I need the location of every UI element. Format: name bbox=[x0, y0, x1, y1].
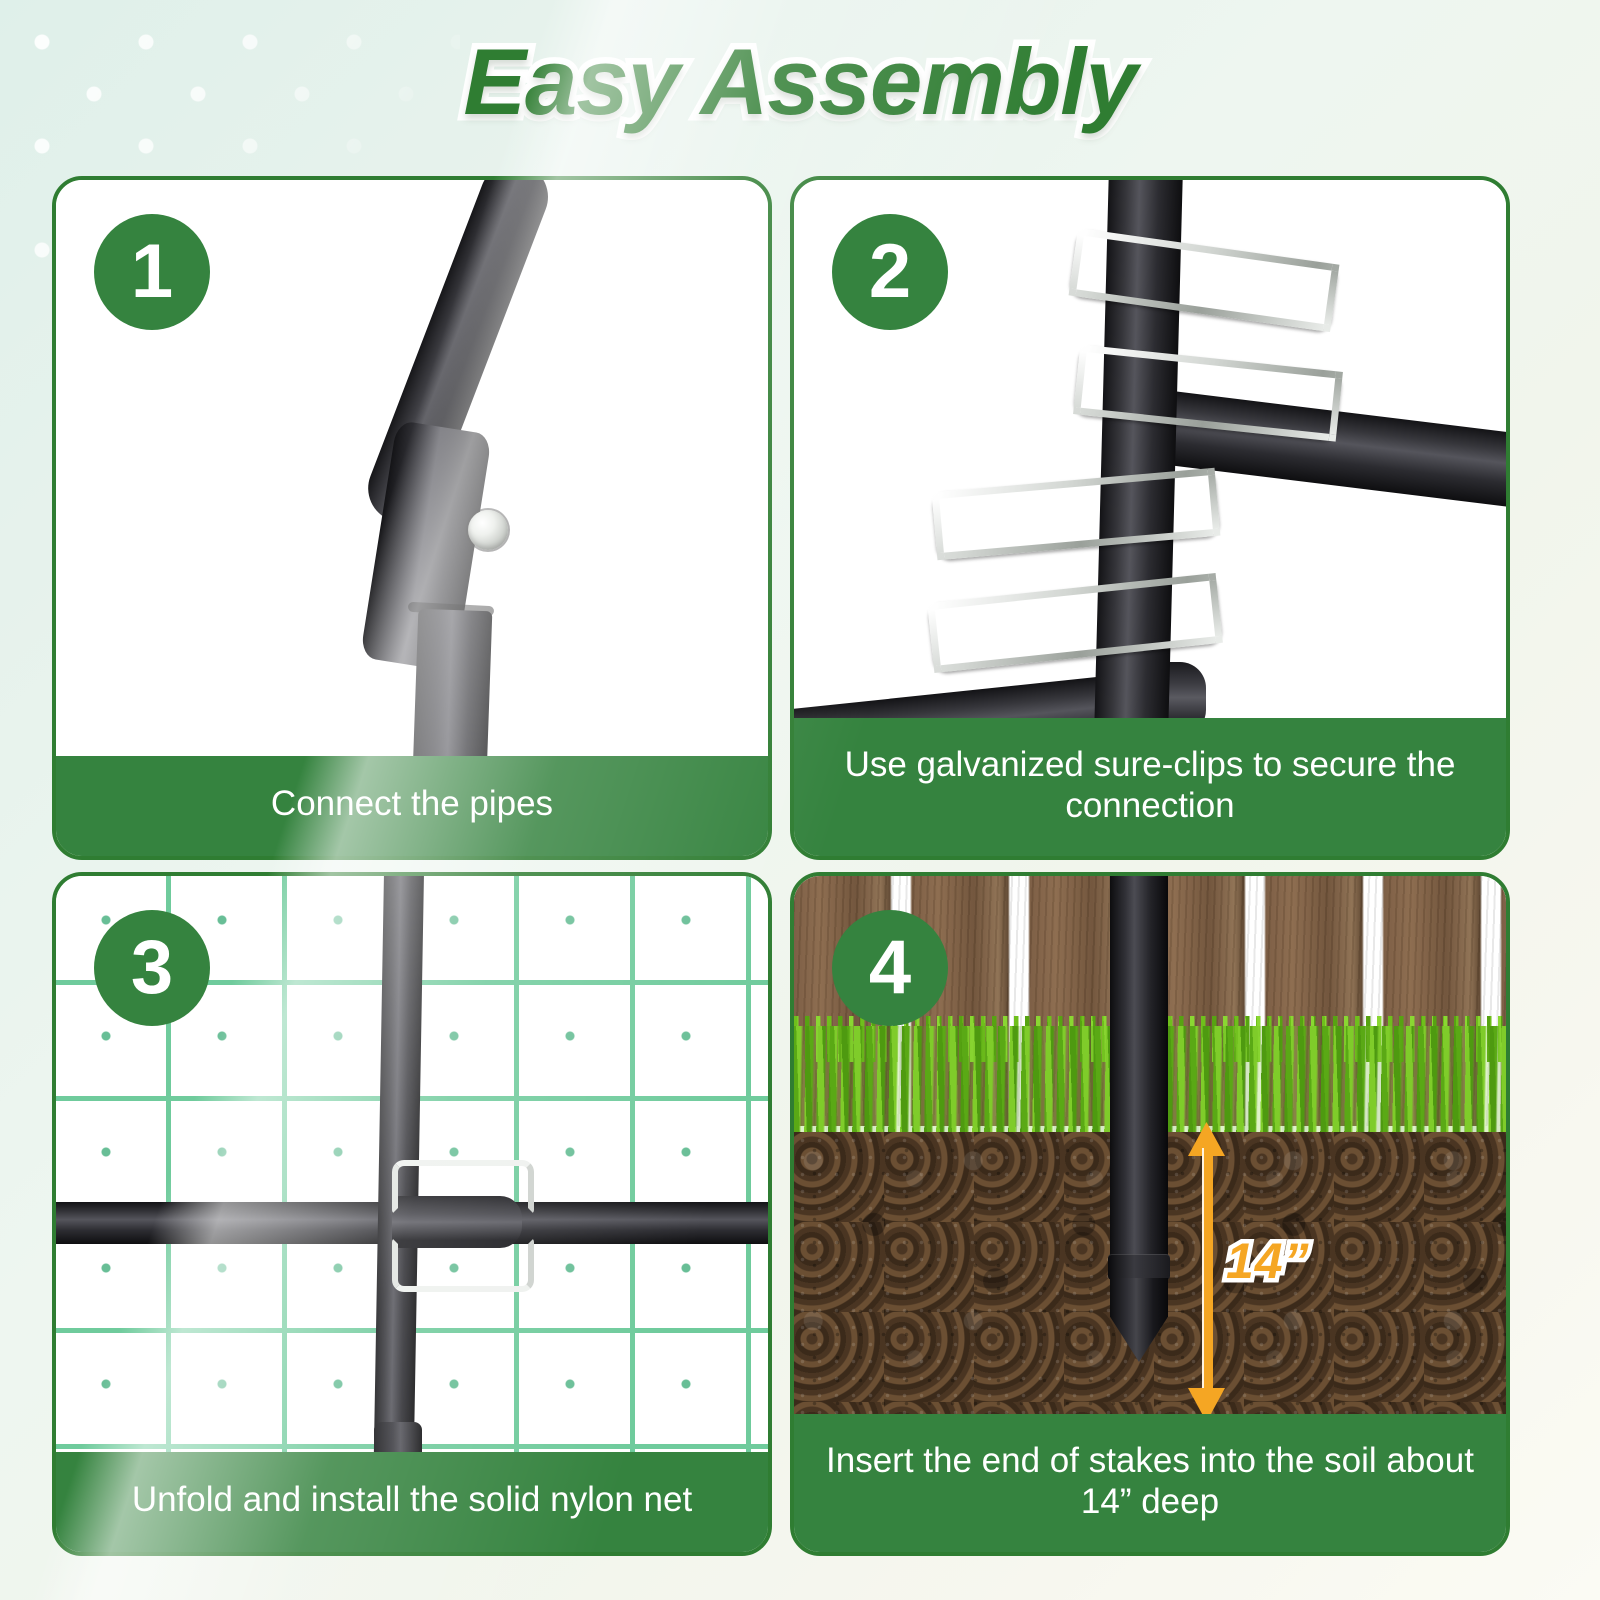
step-caption-2: Use galvanized sure-clips to secure the … bbox=[794, 718, 1506, 856]
step-panel-3: 3 Unfold and install the solid nylon net bbox=[52, 872, 772, 1556]
bolt-icon bbox=[468, 510, 508, 550]
step-panel-2: 2 Use galvanized sure-clips to secure th… bbox=[790, 176, 1510, 860]
depth-arrow-icon bbox=[1198, 1122, 1214, 1414]
stake-shaft bbox=[1110, 876, 1168, 1296]
step-caption-3: Unfold and install the solid nylon net bbox=[56, 1452, 768, 1552]
step-panel-4: 14” 4 Insert the end of stakes into the … bbox=[790, 872, 1510, 1556]
steps-grid: 1 Connect the pipes 2 Use bbox=[52, 176, 1510, 1556]
sure-clip-icon-3 bbox=[932, 468, 1221, 560]
step-panel-1: 1 Connect the pipes bbox=[52, 176, 772, 860]
sure-clip-icon-bottom bbox=[392, 1238, 534, 1292]
depth-measurement-label: 14” bbox=[1226, 1232, 1310, 1290]
step-caption-4: Insert the end of stakes into the soil a… bbox=[794, 1414, 1506, 1552]
sure-clip-icon-top bbox=[392, 1160, 534, 1214]
step-3-illustration: 3 bbox=[56, 876, 768, 1452]
step-badge-4: 4 bbox=[832, 910, 948, 1026]
step-caption-1: Connect the pipes bbox=[56, 756, 768, 856]
step-badge-1: 1 bbox=[94, 214, 210, 330]
step-1-illustration: 1 bbox=[56, 180, 768, 756]
infographic-page: Easy Assembly 1 Connect the pipes 2 bbox=[0, 0, 1600, 1600]
arrow-shaft bbox=[1202, 1148, 1213, 1396]
step-badge-3: 3 bbox=[94, 910, 210, 1026]
step-2-illustration: 2 bbox=[794, 180, 1506, 718]
stake-band bbox=[1108, 1254, 1170, 1280]
page-title: Easy Assembly bbox=[0, 28, 1600, 136]
step-4-illustration: 14” 4 bbox=[794, 876, 1506, 1414]
sure-clip-icon-4 bbox=[927, 573, 1223, 673]
step-badge-2: 2 bbox=[832, 214, 948, 330]
pipe-seam bbox=[374, 1422, 422, 1452]
lower-pipe-segment bbox=[410, 609, 493, 756]
